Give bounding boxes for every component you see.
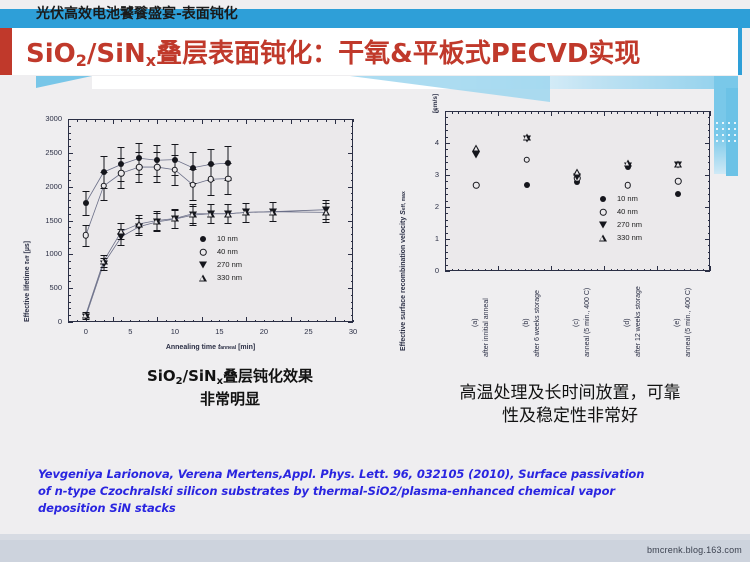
- error-bar-cap-bottom: [82, 246, 89, 247]
- caption-right-line2: 性及稳定性非常好: [420, 405, 720, 428]
- axis-tick-bottom: [631, 269, 632, 272]
- title-sub-2: 2: [76, 51, 87, 70]
- error-bar-cap-top: [323, 203, 330, 204]
- x-category-label: anneal (5 min., 400 C): [584, 288, 591, 357]
- legend-row: 330 nm: [595, 232, 642, 243]
- axis-tick-right: [708, 130, 711, 131]
- axis-tick-top: [525, 111, 526, 114]
- axis-tick-bottom: [684, 269, 685, 272]
- marker-triangle-inner: [200, 277, 204, 281]
- error-bar-cap-top: [225, 204, 232, 205]
- axis-tick-bottom: [591, 269, 592, 272]
- axis-tick-bottom: [664, 269, 665, 272]
- axis-tick-left: [445, 175, 450, 176]
- marker-open-triangle-up: [189, 210, 197, 217]
- caption-right: 高温处理及长时间放置，可靠 性及稳定性非常好: [420, 382, 720, 428]
- axis-tick-top: [578, 111, 579, 114]
- axis-tick-top: [664, 111, 665, 114]
- marker-triangle-inner: [119, 230, 123, 234]
- axis-tick-top: [637, 111, 638, 114]
- kicker-title: 光伏高效电池饕餮盛宴-表面钝化: [36, 3, 238, 23]
- marker-triangle-inner: [625, 161, 629, 165]
- axis-tick-left: [445, 169, 448, 170]
- chart-legend: 10 nm40 nm270 nm330 nm: [595, 193, 642, 245]
- axis-tick-bottom: [617, 269, 618, 272]
- title-part-sio: SiO: [26, 39, 76, 69]
- marker-open-circle: [100, 183, 107, 190]
- caption-right-line1: 高温处理及长时间放置，可靠: [420, 382, 720, 405]
- legend-symbol-filled-circle: [195, 233, 211, 244]
- axis-tick-right: [708, 169, 711, 170]
- legend-symbol-open-triangle-up: [195, 272, 211, 283]
- chart-curves: [10, 105, 370, 355]
- marker-triangle-inner: [270, 210, 274, 214]
- error-bar-cap-top: [225, 163, 232, 164]
- axis-tick-top: [564, 111, 565, 114]
- axis-tick-right: [708, 194, 711, 195]
- marker-open-triangle-up: [207, 210, 215, 217]
- caption-left: SiO2/SiNx叠层钝化效果 非常明显: [80, 366, 380, 409]
- marker-open-triangle-up: [135, 220, 143, 227]
- marker-open-circle: [189, 181, 196, 188]
- marker-filled-triangle-down: [599, 222, 607, 229]
- axis-tick-top: [452, 111, 453, 114]
- marker-open-triangle-up: [153, 217, 161, 224]
- error-bar-cap-top: [136, 152, 143, 153]
- axis-tick-top: [511, 111, 512, 114]
- axis-tick-bottom: [578, 269, 579, 272]
- error-bar-cap-top: [136, 215, 143, 216]
- marker-triangle-inner: [137, 222, 141, 226]
- marker-triangle-inner: [676, 162, 680, 166]
- axis-tick-right: [708, 226, 711, 227]
- axis-tick-top: [551, 111, 552, 116]
- axis-tick-top: [690, 111, 691, 114]
- marker-triangle-inner: [226, 212, 230, 216]
- marker-open-triangle-up: [171, 215, 179, 222]
- axis-tick-left: [445, 181, 448, 182]
- axis-tick-top: [491, 111, 492, 114]
- marker-filled-triangle-down: [472, 152, 480, 159]
- marker-open-circle: [207, 176, 214, 183]
- axis-tick-right: [705, 111, 710, 112]
- axis-tick-bottom: [677, 269, 678, 272]
- axis-tick-left: [445, 162, 448, 163]
- axis-tick-top: [544, 111, 545, 114]
- marker-open-triangle-up: [523, 134, 531, 141]
- axis-tick-top: [657, 111, 658, 116]
- chart-legend: 10 nm40 nm270 nm330 nm: [195, 233, 242, 285]
- marker-triangle-inner: [154, 219, 158, 223]
- axis-tick-right: [708, 213, 711, 214]
- marker-open-triangle-up: [472, 144, 480, 151]
- axis-tick-top: [644, 111, 645, 114]
- axis-tick-left: [445, 226, 448, 227]
- axis-tick-bottom: [465, 269, 466, 272]
- legend-row: 40 nm: [195, 246, 242, 257]
- axis-tick-top: [624, 111, 625, 114]
- legend-row: 270 nm: [195, 259, 242, 270]
- axis-tick-bottom: [657, 266, 658, 271]
- axis-tick-left: [445, 117, 448, 118]
- cap-sub2: 2: [176, 376, 183, 387]
- legend-label: 330 nm: [617, 233, 642, 242]
- axis-tick-top: [472, 111, 473, 114]
- axis-tick-right: [708, 137, 711, 138]
- axis-tick-top: [538, 111, 539, 114]
- axis-tick-top: [604, 111, 605, 116]
- axis-tick-bottom: [650, 269, 651, 272]
- legend-label: 270 nm: [217, 260, 242, 269]
- marker-open-triangle-up: [117, 228, 125, 235]
- marker-filled-circle: [600, 196, 606, 202]
- error-bar-cap-bottom: [207, 195, 214, 196]
- marker-open-triangle-up: [82, 311, 90, 318]
- citation-line-2: of n-type Czochralski silicon substrates…: [38, 483, 718, 500]
- error-bar-cap-bottom: [100, 200, 107, 201]
- y-tick-label: 2: [390, 202, 439, 211]
- chart-surface-recombination: 01234510 nm40 nm270 nm330 nm(a)after inn…: [390, 95, 740, 360]
- axis-tick-top: [631, 111, 632, 114]
- error-bar-cap-bottom: [269, 221, 276, 222]
- marker-filled-circle: [524, 182, 530, 188]
- citation-line-3: deposition SiN stacks: [38, 500, 718, 517]
- axis-tick-bottom: [624, 269, 625, 272]
- marker-open-circle: [524, 156, 531, 163]
- error-bar-cap-top: [82, 191, 89, 192]
- marker-open-circle: [118, 170, 125, 177]
- error-bar-cap-bottom: [189, 225, 196, 226]
- axis-tick-right: [708, 188, 711, 189]
- axis-tick-top: [458, 111, 459, 114]
- axis-tick-bottom: [485, 269, 486, 272]
- title-band-left-accent: [0, 28, 12, 75]
- error-bar-cap-top: [189, 169, 196, 170]
- marker-open-triangle-up: [100, 258, 108, 265]
- axis-tick-left: [445, 130, 448, 131]
- marker-open-circle: [136, 164, 143, 171]
- axis-tick-right: [705, 207, 710, 208]
- error-bar-cap-bottom: [225, 194, 232, 195]
- footer-inner-bar: [0, 540, 750, 562]
- y-tick-label: 3: [390, 170, 439, 179]
- error-bar-cap-bottom: [171, 185, 178, 186]
- error-bar-cap-bottom: [100, 270, 107, 271]
- x-category-tag: (c): [573, 319, 580, 327]
- axis-tick-bottom: [584, 269, 585, 272]
- marker-open-circle: [200, 249, 207, 256]
- axis-tick-top: [465, 111, 466, 114]
- legend-label: 330 nm: [217, 273, 242, 282]
- axis-tick-left: [445, 188, 448, 189]
- slide: 光伏高效电池饕餮盛宴-表面钝化 SiO2/SiNx叠层表面钝化：干氧&平板式PE…: [0, 0, 750, 562]
- marker-open-triangle-up: [599, 235, 607, 242]
- x-category-label: after 6 weeks storage: [534, 290, 541, 357]
- error-bar-cap-bottom: [154, 231, 161, 232]
- axis-tick-top: [591, 111, 592, 114]
- error-bar-cap-bottom: [323, 222, 330, 223]
- legend-label: 10 nm: [617, 194, 638, 203]
- axis-tick-top: [670, 111, 671, 114]
- axis-tick-top: [677, 111, 678, 114]
- error-bar-cap-bottom: [154, 230, 161, 231]
- axis-tick-left: [445, 213, 448, 214]
- marker-filled-circle: [200, 236, 206, 242]
- axis-tick-left: [445, 265, 448, 266]
- x-category-label: anneal (5 min., 400 C): [685, 288, 692, 357]
- error-bar-cap-bottom: [225, 223, 232, 224]
- error-bar-cap-bottom: [207, 223, 214, 224]
- axis-tick-top: [478, 111, 479, 114]
- error-bar-cap-bottom: [189, 223, 196, 224]
- title-sub-x: x: [146, 51, 156, 70]
- legend-row: 40 nm: [595, 206, 642, 217]
- axis-tick-top: [584, 111, 585, 114]
- axis-tick-top: [531, 111, 532, 114]
- axis-tick-bottom: [518, 269, 519, 272]
- axis-tick-bottom: [511, 269, 512, 272]
- error-bar-cap-top: [243, 203, 250, 204]
- x-category-label: after innitial anneal: [483, 298, 490, 357]
- legend-symbol-filled-triangle-down: [595, 219, 611, 230]
- axis-tick-bottom: [611, 269, 612, 272]
- error-bar-cap-bottom: [118, 188, 125, 189]
- axis-tick-left: [445, 245, 448, 246]
- legend-row: 10 nm: [195, 233, 242, 244]
- axis-tick-right: [708, 258, 711, 259]
- y-axis-label: Effective lifetime τeff [µs]: [24, 241, 31, 322]
- axis-tick-bottom: [478, 269, 479, 272]
- marker-triangle-inner: [190, 212, 194, 216]
- y-axis-label: Effective surface recombination velocity…: [400, 191, 407, 351]
- legend-symbol-open-triangle-up: [595, 232, 611, 243]
- axis-tick-right: [708, 245, 711, 246]
- legend-symbol-filled-triangle-down: [195, 259, 211, 270]
- axis-tick-right: [708, 265, 711, 266]
- axis-tick-left: [445, 194, 448, 195]
- marker-open-triangle-up: [322, 209, 330, 216]
- title-part-rest: 叠层表面钝化：干氧&平板式PECVD实现: [156, 39, 640, 69]
- error-bar-cap-top: [323, 200, 330, 201]
- error-bar-cap-bottom: [100, 267, 107, 268]
- axis-tick-bottom: [551, 266, 552, 271]
- marker-filled-circle: [83, 200, 89, 206]
- marker-open-triangle-up: [224, 210, 232, 217]
- citation-block: Yevgeniya Larionova, Verena Mertens,Appl…: [38, 466, 718, 517]
- decor-wedge-left: [36, 76, 92, 88]
- marker-open-triangle-up: [242, 209, 250, 216]
- cap-text: 叠层钝化效果: [223, 367, 313, 385]
- axis-tick-bottom: [452, 269, 453, 272]
- y-tick-label: 1: [390, 234, 439, 243]
- error-bar-cap-top: [118, 158, 125, 159]
- cap-subx: x: [217, 376, 223, 387]
- axis-tick-left: [445, 220, 448, 221]
- axis-tick-left: [445, 149, 448, 150]
- axis-tick-right: [708, 162, 711, 163]
- axis-tick-right: [708, 181, 711, 182]
- axis-tick-top: [498, 111, 499, 116]
- axis-tick-bottom: [558, 269, 559, 272]
- axis-tick-top: [617, 111, 618, 114]
- x-category-tag: (e): [674, 318, 681, 327]
- error-bar-cap-top: [269, 202, 276, 203]
- error-bar-cap-bottom: [189, 200, 196, 201]
- error-bar-cap-top: [207, 164, 214, 165]
- axis-tick-bottom: [538, 269, 539, 272]
- marker-open-triangle-up: [624, 159, 632, 166]
- axis-tick-right: [705, 271, 710, 272]
- cap-sin: /SiN: [183, 367, 217, 385]
- error-bar-cap-bottom: [154, 182, 161, 183]
- axis-tick-bottom: [697, 269, 698, 272]
- axis-tick-top: [518, 111, 519, 114]
- axis-tick-bottom: [458, 269, 459, 272]
- axis-tick-top: [611, 111, 612, 114]
- marker-open-triangle-up: [269, 208, 277, 215]
- error-bar-cap-bottom: [136, 235, 143, 236]
- error-bar-cap-top: [154, 211, 161, 212]
- axis-tick-right: [708, 124, 711, 125]
- error-bar-cap-top: [171, 209, 178, 210]
- marker-open-circle: [675, 178, 682, 185]
- axis-tick-bottom: [544, 269, 545, 272]
- x-axis-label: Annealing time tanneal [min]: [68, 344, 353, 351]
- legend-symbol-open-circle: [595, 206, 611, 217]
- y-tick-label: 0: [390, 266, 439, 275]
- axis-tick-top: [697, 111, 698, 114]
- axis-tick-left: [445, 156, 448, 157]
- error-bar-cap-top: [154, 152, 161, 153]
- marker-open-triangle-up: [199, 275, 207, 282]
- axis-tick-top: [485, 111, 486, 114]
- marker-open-circle: [83, 232, 90, 239]
- axis-tick-left: [445, 258, 448, 259]
- cap-sio: SiO: [147, 367, 176, 385]
- axis-tick-bottom: [505, 269, 506, 272]
- axis-tick-bottom: [670, 269, 671, 272]
- axis-tick-right: [708, 252, 711, 253]
- error-bar-cap-bottom: [171, 228, 178, 229]
- marker-triangle-inner: [324, 211, 328, 215]
- axis-tick-top: [505, 111, 506, 114]
- marker-triangle-inner: [474, 146, 478, 150]
- axis-tick-right: [708, 220, 711, 221]
- axis-tick-bottom: [644, 269, 645, 272]
- legend-symbol-open-circle: [195, 246, 211, 257]
- axis-tick-bottom: [690, 269, 691, 272]
- marker-open-circle: [172, 167, 179, 174]
- error-bar-cap-bottom: [136, 233, 143, 234]
- marker-triangle-inner: [524, 136, 528, 140]
- axis-tick-left: [445, 271, 450, 272]
- x-category-tag: (d): [624, 318, 631, 327]
- marker-triangle-inner: [208, 212, 212, 216]
- marker-open-triangle-up: [573, 169, 581, 176]
- error-bar-cap-top: [118, 223, 125, 224]
- axis-tick-bottom: [531, 269, 532, 272]
- watermark-label: bmcrenk.blog.163.com: [647, 545, 742, 555]
- axis-tick-right: [705, 239, 710, 240]
- axis-tick-left: [445, 233, 448, 234]
- page-title: SiO2/SiNx叠层表面钝化：干氧&平板式PECVD实现: [26, 33, 640, 70]
- marker-open-circle: [473, 182, 480, 189]
- error-bar-cap-top: [189, 152, 196, 153]
- marker-filled-triangle-down: [199, 262, 207, 269]
- axis-tick-left: [445, 201, 448, 202]
- marker-triangle-inner: [243, 211, 247, 215]
- axis-tick-top: [597, 111, 598, 114]
- axis-tick-bottom: [491, 269, 492, 272]
- axis-tick-right: [708, 201, 711, 202]
- citation-line-1: Yevgeniya Larionova, Verena Mertens,Appl…: [38, 466, 718, 483]
- axis-tick-right: [705, 175, 710, 176]
- error-bar-cap-top: [100, 255, 107, 256]
- error-bar-cap-top: [225, 146, 232, 147]
- error-bar-cap-top: [207, 149, 214, 150]
- error-bar-cap-top: [118, 147, 125, 148]
- axis-tick-left: [445, 137, 448, 138]
- axis-tick-left: [445, 252, 448, 253]
- axis-tick-top: [710, 111, 711, 116]
- axis-tick-top: [558, 111, 559, 114]
- error-bar-cap-top: [171, 144, 178, 145]
- error-bar-cap-top: [100, 172, 107, 173]
- x-category-label: after 12 weeks storage: [635, 286, 642, 357]
- marker-open-circle: [154, 164, 161, 171]
- axis-tick-left: [445, 239, 450, 240]
- legend-label: 40 nm: [617, 207, 638, 216]
- legend-row: 330 nm: [195, 272, 242, 283]
- axis-tick-right: [708, 117, 711, 118]
- error-bar-cap-top: [171, 155, 178, 156]
- axis-tick-bottom: [571, 269, 572, 272]
- legend-symbol-filled-circle: [595, 193, 611, 204]
- marker-filled-circle: [675, 191, 681, 197]
- axis-tick-bottom: [637, 269, 638, 272]
- axis-tick-bottom: [498, 266, 499, 271]
- axis-tick-top: [571, 111, 572, 114]
- axis-tick-bottom: [564, 269, 565, 272]
- error-bar-cap-top: [82, 225, 89, 226]
- error-bar-cap-top: [100, 156, 107, 157]
- marker-open-circle: [624, 182, 631, 189]
- marker-triangle-inner: [575, 171, 579, 175]
- axis-tick-right: [708, 149, 711, 150]
- error-bar-cap-bottom: [243, 222, 250, 223]
- axis-tick-bottom: [710, 266, 711, 271]
- error-bar-cap-bottom: [118, 239, 125, 240]
- axis-tick-right: [705, 143, 710, 144]
- legend-row: 10 nm: [595, 193, 642, 204]
- axis-tick-top: [650, 111, 651, 114]
- axis-tick-top: [684, 111, 685, 114]
- axis-tick-left: [445, 143, 450, 144]
- error-bar-cap-bottom: [118, 245, 125, 246]
- chart-effective-lifetime: 05001000150020002500300005101520253010 n…: [10, 105, 370, 355]
- error-bar-cap-bottom: [136, 182, 143, 183]
- axis-tick-bottom: [525, 269, 526, 272]
- marker-triangle-inner: [600, 237, 604, 241]
- marker-triangle-inner: [101, 260, 105, 264]
- error-bar-cap-bottom: [82, 215, 89, 216]
- title-part-sin: /SiN: [87, 39, 146, 69]
- legend-label: 270 nm: [617, 220, 642, 229]
- marker-open-triangle-up: [674, 160, 682, 167]
- x-category-tag: (a): [472, 318, 479, 327]
- error-bar-cap-top: [189, 204, 196, 205]
- axis-tick-right: [708, 233, 711, 234]
